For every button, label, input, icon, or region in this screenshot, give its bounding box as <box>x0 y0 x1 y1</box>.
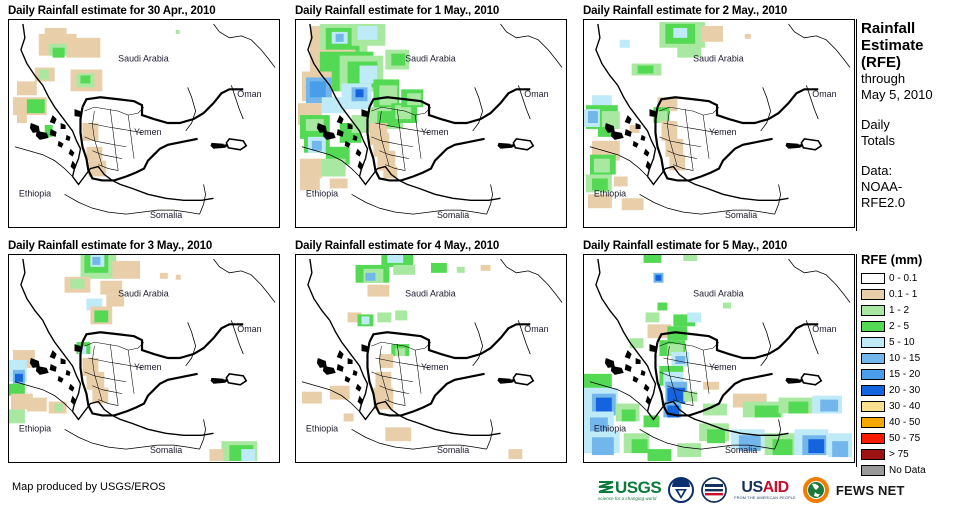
label-oman: Oman <box>524 324 548 334</box>
panel-title: Daily Rainfall estimate for 30 Apr., 201… <box>8 4 280 19</box>
usaid-word-aid: AID <box>763 479 789 496</box>
label-oman: Oman <box>237 89 261 99</box>
label-oman: Oman <box>812 89 836 99</box>
usgs-logo[interactable]: USGS science for a changing world <box>598 479 661 501</box>
info-title-line2: Estimate <box>861 37 967 54</box>
info-data-line2: NOAA- <box>861 179 967 195</box>
legend-label: 15 - 20 <box>889 369 920 380</box>
legend-label: 20 - 30 <box>889 385 920 396</box>
spacer <box>861 149 967 163</box>
rainfall-map-3may: Saudi Arabia Oman Yemen Ethiopia Somalia <box>9 255 279 462</box>
legend-label: 30 - 40 <box>889 401 920 412</box>
legend-swatch <box>861 273 885 284</box>
legend-item[interactable]: 15 - 20 <box>861 367 967 382</box>
map-credit: Map produced by USGS/EROS <box>12 481 165 493</box>
legend-item[interactable]: 50 - 75 <box>861 431 967 446</box>
label-somalia: Somalia <box>725 210 757 220</box>
legend-swatch <box>861 305 885 316</box>
info-through-date: May 5, 2010 <box>861 87 967 103</box>
map-frame[interactable]: Saudi Arabia Oman Yemen Ethiopia Somalia <box>583 254 855 463</box>
label-yemen: Yemen <box>421 127 448 137</box>
legend-item[interactable]: 20 - 30 <box>861 383 967 398</box>
socotra-island <box>786 139 822 150</box>
info-divider-top <box>856 19 857 231</box>
map-frame[interactable]: Saudi Arabia Oman Yemen Ethiopia Somalia <box>583 19 855 228</box>
label-oman: Oman <box>812 324 836 334</box>
legend-swatch <box>861 353 885 364</box>
label-somalia: Somalia <box>150 445 182 455</box>
legend-item[interactable]: 30 - 40 <box>861 399 967 414</box>
label-yemen: Yemen <box>134 127 161 137</box>
label-ethiopia: Ethiopia <box>19 423 51 433</box>
info-data-line1: Data: <box>861 163 967 179</box>
socotra-island <box>211 139 247 150</box>
legend-swatch <box>861 385 885 396</box>
map-frame[interactable]: Saudi Arabia Oman Yemen Ethiopia Somalia <box>295 254 567 463</box>
legend-item[interactable]: 40 - 50 <box>861 415 967 430</box>
rainfall-map-1may: Saudi Arabia Oman Yemen Ethiopia Somalia <box>296 20 566 227</box>
legend-swatch <box>861 417 885 428</box>
label-yemen: Yemen <box>421 362 448 372</box>
socotra-island <box>498 374 534 385</box>
label-ethiopia: Ethiopia <box>19 188 51 198</box>
legend-swatch <box>861 337 885 348</box>
fews-net-wordmark: FEWS NET <box>836 483 905 498</box>
legend-item[interactable]: 1 - 2 <box>861 303 967 318</box>
info-title-line1: Rainfall <box>861 20 967 37</box>
map-panel-3may: Daily Rainfall estimate for 3 May., 2010 <box>8 239 280 463</box>
legend-swatch <box>861 369 885 380</box>
rfe-info-block: Rainfall Estimate (RFE) through May 5, 2… <box>861 20 967 211</box>
map-frame[interactable]: Saudi Arabia Oman Yemen Ethiopia Somalia <box>8 19 280 228</box>
label-saudi-arabia: Saudi Arabia <box>118 289 169 299</box>
rainfall-map-30apr: Saudi Arabia Oman Yemen Ethiopia Somalia <box>9 20 279 227</box>
usgs-mark-icon <box>598 480 614 495</box>
panel-title: Daily Rainfall estimate for 5 May., 2010 <box>583 239 855 254</box>
map-frame[interactable]: Saudi Arabia Oman Yemen Ethiopia Somalia <box>295 19 567 228</box>
legend-label: > 75 <box>889 449 909 460</box>
map-panel-1may: Daily Rainfall estimate for 1 May., 2010 <box>295 4 567 228</box>
fews-net-globe-icon[interactable] <box>803 477 829 503</box>
info-title-line3: (RFE) <box>861 54 967 71</box>
partner-logo-strip: USGS science for a changing world USAID … <box>598 474 905 506</box>
label-oman: Oman <box>237 324 261 334</box>
legend-label: 50 - 75 <box>889 433 920 444</box>
label-saudi-arabia: Saudi Arabia <box>693 54 744 64</box>
socotra-island <box>498 139 534 150</box>
usgs-tagline: science for a changing world <box>598 497 656 501</box>
legend-swatch <box>861 449 885 460</box>
legend-item[interactable]: 0 - 0.1 <box>861 271 967 286</box>
map-panel-5may: Daily Rainfall estimate for 5 May., 2010 <box>583 239 855 463</box>
label-saudi-arabia: Saudi Arabia <box>405 289 456 299</box>
legend-item[interactable]: 5 - 10 <box>861 335 967 350</box>
usaid-word-us: US <box>741 479 762 496</box>
rfe-legend: RFE (mm) 0 - 0.1 0.1 - 1 1 - 2 2 - 5 5 -… <box>861 252 967 479</box>
legend-swatch <box>861 321 885 332</box>
label-saudi-arabia: Saudi Arabia <box>693 289 744 299</box>
spacer <box>861 103 967 117</box>
label-saudi-arabia: Saudi Arabia <box>118 54 169 64</box>
map-frame[interactable]: Saudi Arabia Oman Yemen Ethiopia Somalia <box>8 254 280 463</box>
label-oman: Oman <box>524 89 548 99</box>
legend-label: 10 - 15 <box>889 353 920 364</box>
legend-swatch <box>861 433 885 444</box>
label-somalia: Somalia <box>725 445 757 455</box>
panel-title: Daily Rainfall estimate for 3 May., 2010 <box>8 239 280 254</box>
label-ethiopia: Ethiopia <box>594 188 626 198</box>
label-somalia: Somalia <box>437 445 469 455</box>
map-panel-2may: Daily Rainfall estimate for 2 May., 2010 <box>583 4 855 228</box>
legend-label: 1 - 2 <box>889 305 909 316</box>
label-ethiopia: Ethiopia <box>306 423 338 433</box>
info-totals-line2: Totals <box>861 133 967 149</box>
rainfall-map-2may: Saudi Arabia Oman Yemen Ethiopia Somalia <box>584 20 854 227</box>
label-yemen: Yemen <box>709 362 736 372</box>
panel-title: Daily Rainfall estimate for 1 May., 2010 <box>295 4 567 19</box>
legend-item[interactable]: 10 - 15 <box>861 351 967 366</box>
rainfall-map-5may: Saudi Arabia Oman Yemen Ethiopia Somalia <box>584 255 854 462</box>
usaid-wordmark: USAID <box>741 480 788 496</box>
socotra-island <box>786 374 822 385</box>
info-data-line3: RFE2.0 <box>861 195 967 211</box>
usgs-wordmark: USGS <box>615 479 661 496</box>
map-panel-30apr: Daily Rainfall estimate for 30 Apr., 201… <box>8 4 280 228</box>
socotra-island <box>211 374 247 385</box>
usaid-seal-icon[interactable] <box>701 477 727 503</box>
legend-label: 2 - 5 <box>889 321 909 332</box>
legend-item[interactable]: > 75 <box>861 447 967 462</box>
label-ethiopia: Ethiopia <box>594 423 626 433</box>
label-saudi-arabia: Saudi Arabia <box>405 54 456 64</box>
panel-title: Daily Rainfall estimate for 4 May., 2010 <box>295 239 567 254</box>
usaid-tagline: FROM THE AMERICAN PEOPLE <box>734 497 796 501</box>
legend-heading: RFE (mm) <box>861 252 967 267</box>
label-somalia: Somalia <box>437 210 469 220</box>
noaa-logo-icon[interactable] <box>668 477 694 503</box>
legend-item[interactable]: 0.1 - 1 <box>861 287 967 302</box>
label-yemen: Yemen <box>709 127 736 137</box>
info-totals-line1: Daily <box>861 117 967 133</box>
legend-label: 40 - 50 <box>889 417 920 428</box>
rainfall-map-4may: Saudi Arabia Oman Yemen Ethiopia Somalia <box>296 255 566 462</box>
info-divider-bottom <box>856 254 857 467</box>
legend-swatch <box>861 289 885 300</box>
map-panel-4may: Daily Rainfall estimate for 4 May., 2010 <box>295 239 567 463</box>
panel-title: Daily Rainfall estimate for 2 May., 2010 <box>583 4 855 19</box>
legend-item[interactable]: 2 - 5 <box>861 319 967 334</box>
legend-label: 0 - 0.1 <box>889 273 917 284</box>
rainfall-raster <box>584 22 751 210</box>
legend-label: 0.1 - 1 <box>889 289 917 300</box>
legend-label: 5 - 10 <box>889 337 915 348</box>
label-yemen: Yemen <box>134 362 161 372</box>
label-somalia: Somalia <box>150 210 182 220</box>
info-through: through <box>861 71 967 87</box>
label-ethiopia: Ethiopia <box>306 188 338 198</box>
usaid-logo[interactable]: USAID FROM THE AMERICAN PEOPLE <box>734 480 796 501</box>
legend-swatch <box>861 401 885 412</box>
